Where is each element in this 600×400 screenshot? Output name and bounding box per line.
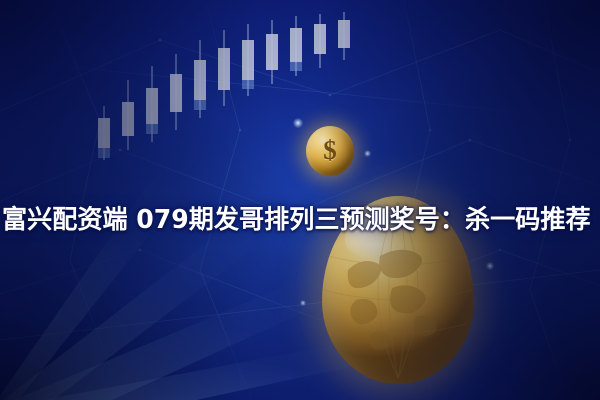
gold-dollar-coin: $: [306, 126, 354, 176]
headline-text: 富兴配资端 079期发哥排列三预测奖号：杀一码推荐: [0, 199, 591, 236]
promo-banner: $ 富兴配资端 079期发哥排列三预测奖号：杀一码推荐: [0, 0, 600, 400]
headline-banner: 富兴配资端 079期发哥排列三预测奖号：杀一码推荐: [0, 196, 600, 238]
dollar-sign-icon: $: [323, 137, 337, 164]
